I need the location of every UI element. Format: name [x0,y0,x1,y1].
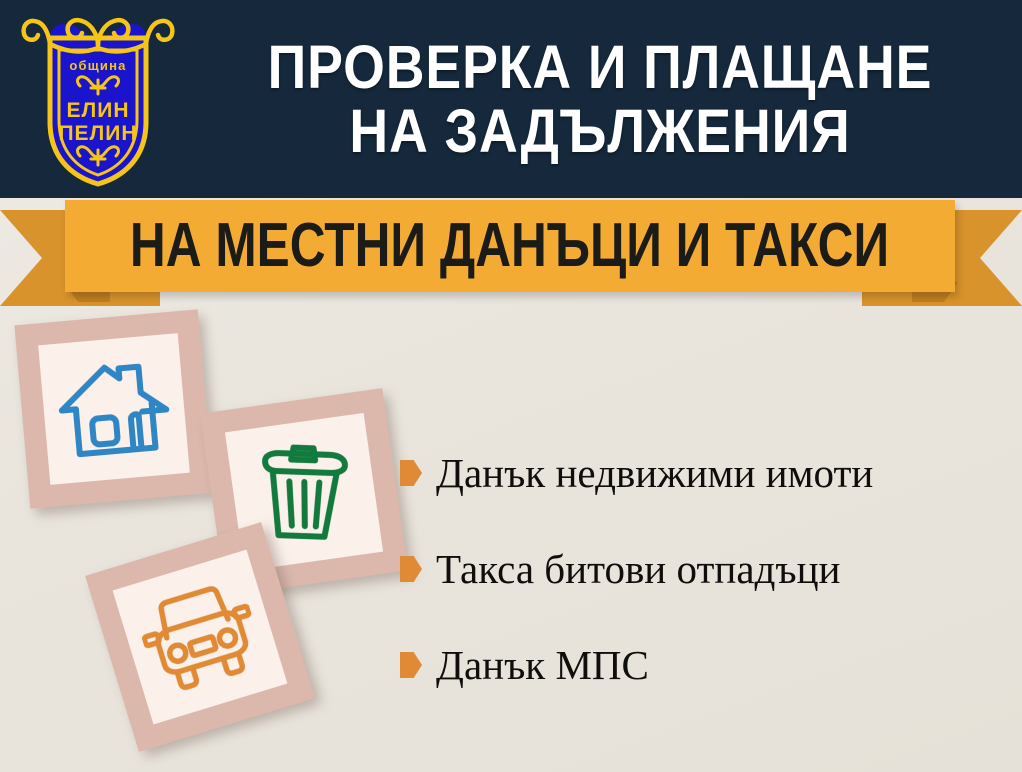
list-item[interactable]: Данък недвижими имоти [400,425,1020,521]
poster-stage: ПРОВЕРКА И ПЛАЩАНЕ НА ЗАДЪЛЖЕНИЯ об [0,0,1022,772]
page-title: ПРОВЕРКА И ПЛАЩАНЕ НА ЗАДЪЛЖЕНИЯ [239,20,961,180]
trash-icon [254,438,354,545]
list-item[interactable]: Данък МПС [400,617,1020,713]
ribbon-label: НА МЕСТНИ ДАНЪЦИ И ТАКСИ [130,215,889,277]
list-item[interactable]: Такса битови отпадъци [400,521,1020,617]
municipality-logo: община ЕЛИН ПЕЛИН [18,4,178,189]
ribbon-banner: НА МЕСТНИ ДАНЪЦИ И ТАКСИ [0,196,1022,311]
page-title-line1: ПРОВЕРКА И ПЛАЩАНЕ [268,38,933,98]
house-icon [54,354,174,463]
logo-text-elin: ЕЛИН [66,99,129,122]
ribbon-main-panel: НА МЕСТНИ ДАНЪЦИ И ТАКСИ [65,200,955,292]
list-item-label: Такса битови отпадъци [436,549,840,590]
car-icon [132,574,268,700]
house-icon-wrap [36,331,192,487]
logo-text-pelin: ПЕЛИН [58,122,137,145]
list-item-label: Данък МПС [436,645,649,686]
bullet-arrow-icon [400,460,422,486]
coat-of-arms-icon: община ЕЛИН ПЕЛИН [18,4,178,189]
stamp-card-house [14,309,213,508]
bullet-arrow-icon [400,652,422,678]
tax-type-list: Данък недвижими имоти Такса битови отпад… [400,425,1020,713]
list-item-label: Данък недвижими имоти [436,453,873,494]
page-title-line2: НА ЗАДЪЛЖЕНИЯ [349,102,850,162]
bullet-arrow-icon [400,556,422,582]
logo-text-obshtina: община [69,58,126,73]
